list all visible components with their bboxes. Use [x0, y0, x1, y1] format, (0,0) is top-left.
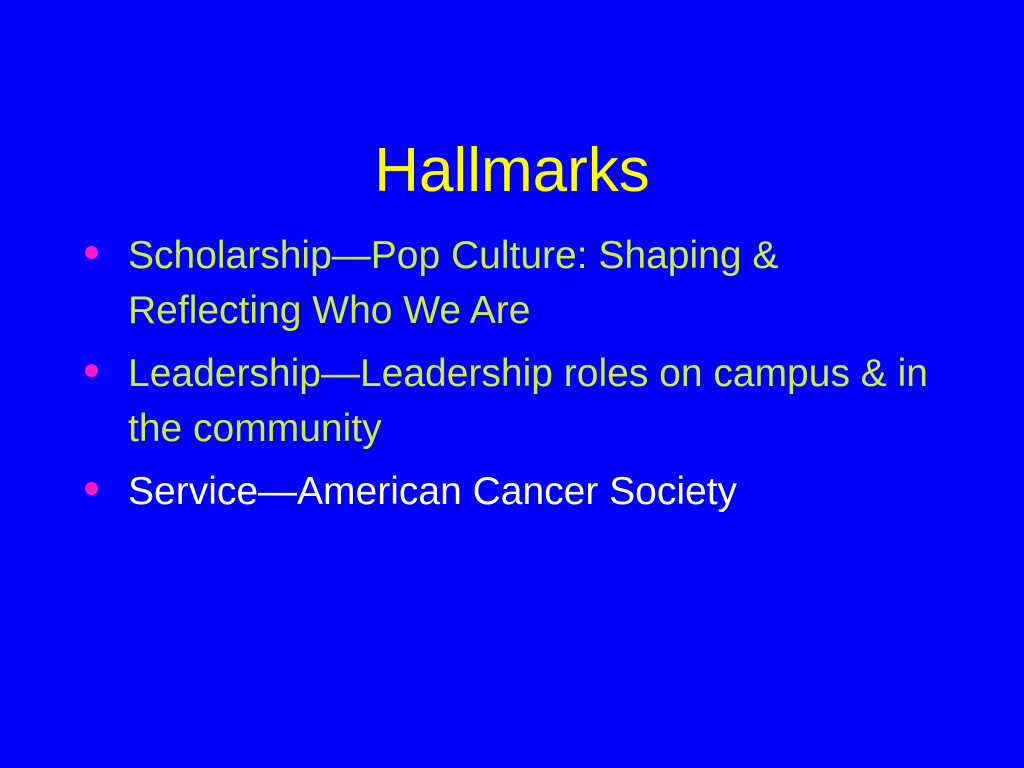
presentation-slide: Hallmarks Scholarship—Pop Culture: Shapi…	[0, 0, 1024, 768]
list-item: Service—American Cancer Society	[78, 464, 958, 519]
slide-title: Hallmarks	[0, 137, 1024, 205]
list-item: Leadership—Leadership roles on campus & …	[78, 346, 958, 456]
list-item-text: Leadership—Leadership roles on campus & …	[128, 346, 938, 456]
list-item-text: Service—American Cancer Society	[128, 464, 938, 519]
bullet-dot-icon	[85, 482, 98, 495]
list-item-text: Scholarship—Pop Culture: Shaping & Refle…	[128, 228, 938, 338]
bullet-dot-icon	[85, 246, 98, 259]
bullet-dot-icon	[85, 364, 98, 377]
bullet-list: Scholarship—Pop Culture: Shaping & Refle…	[78, 228, 958, 527]
list-item: Scholarship—Pop Culture: Shaping & Refle…	[78, 228, 958, 338]
